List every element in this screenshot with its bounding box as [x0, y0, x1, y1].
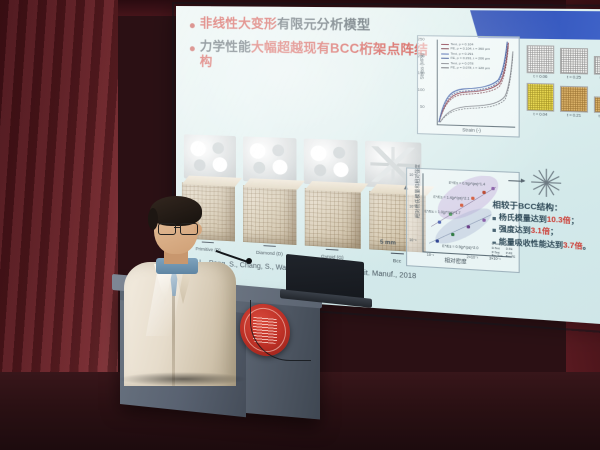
conclusion-text: 强度达到3.1倍；: [499, 226, 558, 239]
speaker-figure: [120, 196, 240, 386]
ashby-point: [482, 219, 485, 222]
lattice-block-body: [243, 185, 297, 245]
legend-label: FE, ρ = 0.078, t = 120 μm: [451, 66, 490, 71]
conclusion-suffix: ；: [550, 229, 558, 237]
ashby-point: [436, 239, 439, 242]
speaker-shadow: [118, 372, 248, 386]
tpms-render-primitive: [184, 134, 236, 180]
conclusion-suffix: ；: [571, 218, 579, 226]
y-tick: 200: [418, 54, 425, 58]
y-tick: 10⁻²: [409, 204, 416, 209]
mesh-swatch: [594, 56, 600, 75]
mesh-label: t = 0.40: [594, 114, 600, 119]
y-tick: 10⁻³: [409, 238, 416, 243]
mesh-label: t = 0.06: [527, 74, 555, 79]
tpms-render-gyroid: [303, 139, 358, 187]
ashby-point: [467, 225, 470, 228]
conclusion-prefix: 能量吸收性能达到: [499, 238, 563, 249]
y-tick: 150: [418, 71, 425, 75]
ashby-y-ticks: 10⁻¹ 10⁻² 10⁻³: [408, 173, 421, 252]
stress-strain-y-ticks: 250 200 150 100 50: [426, 38, 437, 125]
scale-bar: [326, 249, 339, 251]
slide-bullet-list: 非线性大变形有限元分析模型 力学性能大幅超越现有BCC桁架点阵结构: [190, 16, 430, 83]
bullet-item: 非线性大变形有限元分析模型: [190, 16, 430, 35]
bullet-dot-icon: [190, 23, 195, 28]
bcc-strut-icon: [527, 166, 566, 200]
stress-strain-x-label: Strain (-): [462, 127, 481, 133]
speaker-jacket: [124, 262, 236, 386]
legend-swatch: [441, 44, 449, 45]
y-tick: 10⁻¹: [409, 173, 416, 178]
mesh-cell: t = 0.5: [594, 56, 600, 75]
mesh-label: t = 0.21: [560, 113, 588, 118]
mesh-swatch: [527, 45, 555, 74]
ashby-point: [491, 187, 494, 190]
conclusion-suffix: 。: [583, 243, 591, 251]
scale-bar: [391, 253, 404, 255]
ashby-point: [471, 197, 474, 200]
conclusion-block: 相较于BCC结构： 杨氏模量达到10.3倍； 强度达到3.1倍； 能量吸收性能达…: [493, 199, 600, 257]
presentation-photo: 非线性大变形有限元分析模型 力学性能大幅超越现有BCC桁架点阵结构 Stress…: [0, 0, 600, 450]
bullet-plain-text: 力学性能: [200, 39, 251, 54]
lattice-block: Gyroid (G): [305, 188, 360, 262]
conclusion-value: 3.1倍: [531, 228, 550, 237]
speaker-hair: [150, 196, 202, 226]
legend-label: Bcc-FE: [506, 255, 515, 260]
x-tick: 2×10⁻¹: [467, 255, 478, 260]
scale-bar: [263, 245, 275, 247]
x-tick: 10⁻¹: [427, 253, 434, 258]
glasses-icon: [156, 223, 198, 234]
mesh-row-grey: t = 0.06 t = 0.25 t = 0.5: [527, 45, 600, 75]
ashby-point: [460, 204, 463, 207]
mesh-swatch: [527, 83, 555, 112]
mesh-label: t = 0.25: [560, 75, 588, 80]
conclusion-prefix: 杨氏模量达到: [499, 214, 547, 224]
mesh-label: t = 0.5: [594, 76, 600, 81]
legend-row: FE, ρ = 0.078, t = 120 μm: [441, 66, 490, 72]
bullet-accent-text: 非线性大变形: [200, 16, 277, 31]
microphone-head-icon: [246, 258, 252, 264]
ashby-point: [451, 233, 454, 236]
legend-label: Bcc-Test: [492, 255, 503, 260]
stress-strain-chart: Stress (MPa) Strain (-) 250 200 1: [417, 35, 520, 137]
conclusion-value: 10.3倍: [547, 216, 571, 225]
conclusion-bullet-icon: [493, 217, 496, 220]
conclusion-bullet-icon: [493, 229, 496, 232]
conclusion-value: 3.7倍: [563, 242, 583, 251]
y-tick: 50: [420, 105, 425, 109]
mesh-label: t = 0.04: [527, 112, 555, 117]
conclusion-text: 能量吸收性能达到3.7倍。: [499, 238, 591, 253]
ashby-point: [438, 220, 441, 223]
lattice-block-body: [305, 188, 360, 249]
conclusion-prefix: 强度达到: [499, 226, 531, 235]
mesh-row-colored: t = 0.04 t = 0.21 t = 0.40: [527, 83, 600, 113]
scale-note-label: 5 mm: [380, 239, 396, 246]
ashby-point: [482, 191, 485, 194]
legend-swatch: [441, 53, 449, 54]
bullet-text: 力学性能大幅超越现有BCC桁架点阵结构: [200, 39, 430, 75]
lattice-block: Diamond (D): [243, 185, 297, 257]
mesh-sample-panels: t = 0.06 t = 0.25 t = 0.5 t = 0.04: [527, 45, 600, 123]
tpms-render-diamond: [243, 136, 296, 183]
mesh-swatch: [560, 86, 588, 113]
mesh-swatch: [594, 96, 600, 113]
conclusion-bullet-icon: [493, 241, 496, 244]
bullet-plain-text: 有限元分析模型: [277, 17, 370, 32]
y-tick: 250: [418, 37, 425, 41]
y-tick: 100: [418, 88, 425, 92]
mesh-cell: t = 0.04: [527, 83, 555, 112]
stress-strain-legend: Test, ρ = 0.104 FE, ρ = 0.104, t = 360 μ…: [441, 42, 490, 71]
legend-swatch: [441, 48, 449, 49]
bullet-dot-icon: [190, 46, 195, 51]
mesh-cell: t = 0.21: [560, 86, 588, 113]
bullet-text: 非线性大变形有限元分析模型: [200, 16, 371, 34]
legend-swatch: [441, 67, 449, 68]
mesh-cell: t = 0.06: [527, 45, 555, 74]
legend-swatch: [441, 63, 449, 64]
mesh-swatch: [560, 48, 588, 75]
legend-swatch: [441, 58, 449, 59]
mesh-cell: t = 0.25: [560, 48, 588, 75]
mesh-cell: t = 0.40: [594, 96, 600, 113]
bullet-item: 力学性能大幅超越现有BCC桁架点阵结构: [190, 39, 430, 75]
